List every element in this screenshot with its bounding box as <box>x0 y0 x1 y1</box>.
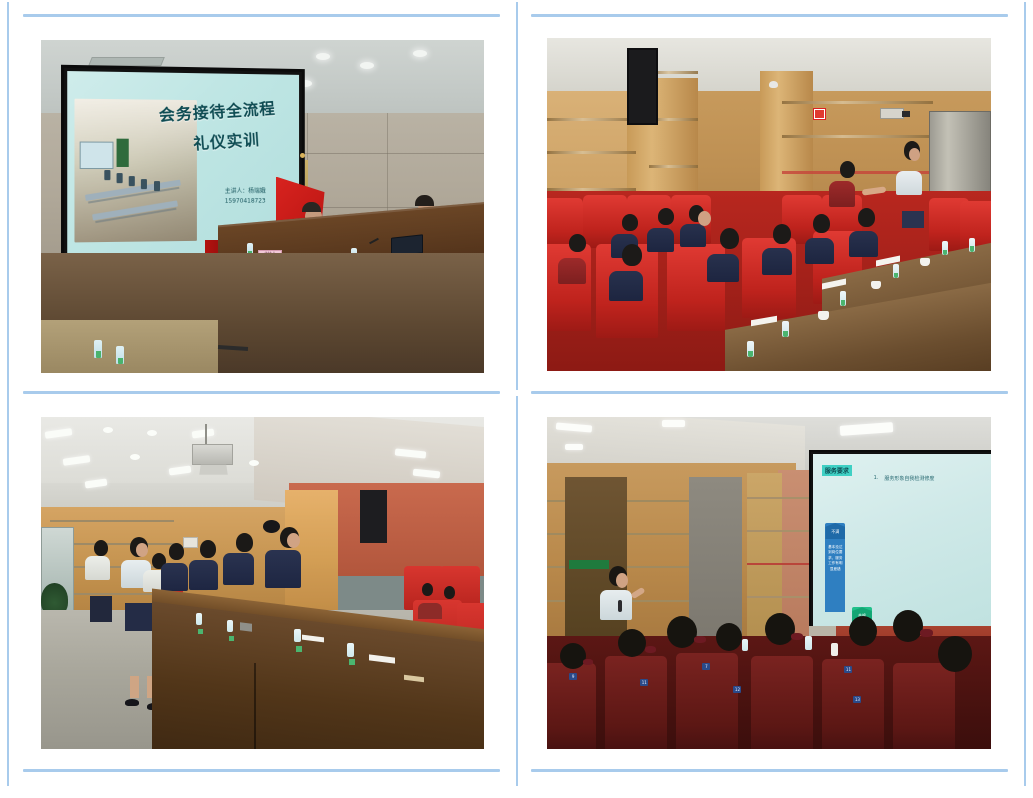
trainee-uniform <box>680 224 706 247</box>
ceiling-light <box>662 420 684 427</box>
speaker-blouse <box>600 590 632 620</box>
auditorium-seat <box>822 659 884 749</box>
auditorium-seat <box>605 656 667 749</box>
ceiling-projector <box>192 444 234 466</box>
photo-top-left: 会务接待全流程 礼仪实训 主讲人：杨瑞娥 15970418723 <box>41 40 484 373</box>
photo-bottom-left <box>41 417 484 749</box>
shoe <box>125 699 139 706</box>
bottom-rule-left <box>23 769 500 772</box>
slide-bar-label: 不满 <box>825 529 845 535</box>
tea-cup <box>920 258 930 266</box>
trousers <box>90 596 112 622</box>
seat-number: 7 <box>702 663 710 670</box>
water-bottle <box>196 613 202 625</box>
wall-trim <box>649 165 698 168</box>
tea-cup <box>818 311 829 320</box>
seat-number: 11 <box>844 666 852 673</box>
ceiling-downlight <box>360 62 374 69</box>
auditorium-seat <box>893 663 955 749</box>
seat-number: 11 <box>640 679 648 686</box>
wall-mounted-tv <box>627 48 658 125</box>
ceiling-light <box>565 444 583 451</box>
bottle-label <box>349 659 355 665</box>
microphone <box>618 600 622 612</box>
projector-mount <box>205 424 207 444</box>
trainee-red-uniform <box>558 258 586 284</box>
water-bottle <box>969 238 975 252</box>
slide-surface: 服务要求 1. 服务形象自我检测修度 不满 基本没达到岗位要求，服务工作有明显差… <box>813 454 991 626</box>
slide-section-tag: 服务要求 <box>822 465 852 476</box>
wall-trim <box>50 520 174 522</box>
ceiling-vent <box>88 57 165 66</box>
slide-title: 会务接待全流程 礼仪实训 <box>139 99 295 154</box>
slide-title-line2: 礼仪实训 <box>156 125 295 158</box>
trainee-head <box>236 533 253 552</box>
bottle-label <box>229 636 234 641</box>
ceiling-downlight <box>103 427 113 433</box>
trainee-uniform <box>762 248 792 275</box>
audience-head <box>560 643 586 669</box>
hair-bow <box>645 646 656 653</box>
auditorium-seat <box>751 656 813 749</box>
bottle-label <box>296 646 302 652</box>
trainee-uniform <box>161 563 188 591</box>
hair-bow <box>583 659 593 665</box>
trainee-head <box>720 228 739 249</box>
seat-number: 9 <box>569 673 577 680</box>
trainee-uniform <box>647 228 674 252</box>
water-bottle <box>742 639 748 651</box>
person-head <box>94 540 108 556</box>
trainee-head <box>200 540 216 558</box>
water-bottle <box>227 620 233 632</box>
wall-device <box>880 108 904 119</box>
exit-sign <box>569 560 609 569</box>
hair-bow <box>791 633 803 640</box>
margin-rule-right <box>1024 2 1026 786</box>
trainee-uniform <box>609 271 643 301</box>
audience-head <box>667 616 697 648</box>
ceiling-downlight <box>413 50 427 57</box>
slide-bar-text: 基本没达到岗位要求，服务工作有明显差错 <box>827 545 843 572</box>
trainer-skirt <box>902 211 924 228</box>
slide-title-line1: 会务接待全流程 <box>138 95 295 128</box>
water-bottle <box>94 340 102 358</box>
audience-head <box>893 610 923 642</box>
desk-item <box>240 622 252 631</box>
speaker-face <box>616 573 628 588</box>
seat-number: 13 <box>853 696 861 703</box>
middle-rule-right <box>531 391 1008 394</box>
document-page: 会务接待全流程 礼仪实训 主讲人：杨瑞娥 15970418723 <box>0 0 1033 798</box>
seated-person-head <box>422 583 433 596</box>
white-shirt <box>85 556 110 580</box>
top-rule-left <box>23 14 500 17</box>
middle-rule-left <box>23 391 500 394</box>
wall-speaker <box>360 490 387 543</box>
trainee-uniform <box>189 560 218 590</box>
slide-item-number: 1. <box>874 475 879 481</box>
hair-bow <box>920 629 933 637</box>
person-head <box>840 161 855 178</box>
instructor-skirt <box>125 603 152 631</box>
water-bottle <box>840 291 846 306</box>
tea-cup <box>831 643 838 656</box>
leg <box>130 676 139 698</box>
margin-rule-left <box>7 2 9 786</box>
column-divider-bottom <box>516 396 518 786</box>
water-bottle <box>893 264 899 278</box>
seated-person-body <box>418 603 442 619</box>
trainee-uniform <box>805 238 834 264</box>
stage-front <box>41 320 218 373</box>
water-bottle <box>116 346 124 364</box>
wall-sign <box>183 537 198 549</box>
photo-top-right <box>547 38 991 371</box>
wall-trim <box>782 135 933 138</box>
audience-head <box>765 613 795 645</box>
seated-person-head <box>444 586 455 599</box>
trainee-head <box>858 208 875 227</box>
water-bottle <box>294 629 301 642</box>
trainee-head <box>569 234 586 252</box>
bottle-label <box>198 629 203 634</box>
table-panel-seam <box>254 663 256 749</box>
photo-bottom-right: 服务要求 1. 服务形象自我检测修度 不满 基本没达到岗位要求，服务工作有明显差… <box>547 417 991 749</box>
wall-device-screen <box>902 111 910 117</box>
trainee-uniform <box>223 553 254 585</box>
hair-bow <box>694 636 706 643</box>
water-bottle <box>747 341 754 357</box>
trainer-blouse <box>896 171 922 195</box>
bottom-rule-right <box>531 769 1008 772</box>
projection-screen: 服务要求 1. 服务形象自我检测修度 不满 基本没达到岗位要求，服务工作有明显差… <box>809 450 991 630</box>
no-smoking-sign <box>813 108 826 120</box>
water-bottle <box>942 241 948 255</box>
slide-bar: 不满 基本没达到岗位要求，服务工作有明显差错 <box>825 523 845 612</box>
audience-head <box>716 623 742 651</box>
wall-trim <box>547 151 636 154</box>
trainer-face <box>909 148 920 161</box>
top-rule-right <box>531 14 1008 17</box>
projector-lens <box>200 465 228 475</box>
audience-head <box>849 616 877 646</box>
trainee-head <box>658 208 674 225</box>
trainee-face <box>698 211 711 226</box>
ceiling-downlight <box>130 454 140 460</box>
wall-trim <box>782 101 933 104</box>
water-bottle <box>782 321 789 337</box>
ceiling-camera <box>769 81 778 88</box>
tea-cup <box>871 281 881 289</box>
person-red-uniform <box>829 181 855 207</box>
audience-head <box>938 636 972 672</box>
water-bottle <box>347 643 354 657</box>
trainee-uniform <box>265 550 301 588</box>
wall-trim <box>547 118 636 121</box>
seat-number: 12 <box>733 686 741 693</box>
column-divider-top <box>516 2 518 390</box>
water-bottle <box>805 636 812 650</box>
trainee-uniform <box>707 254 739 282</box>
slide-item-text: 服务形象自我检测修度 <box>884 475 934 482</box>
trainee-face <box>287 533 300 548</box>
trainee-uniform <box>849 231 878 257</box>
